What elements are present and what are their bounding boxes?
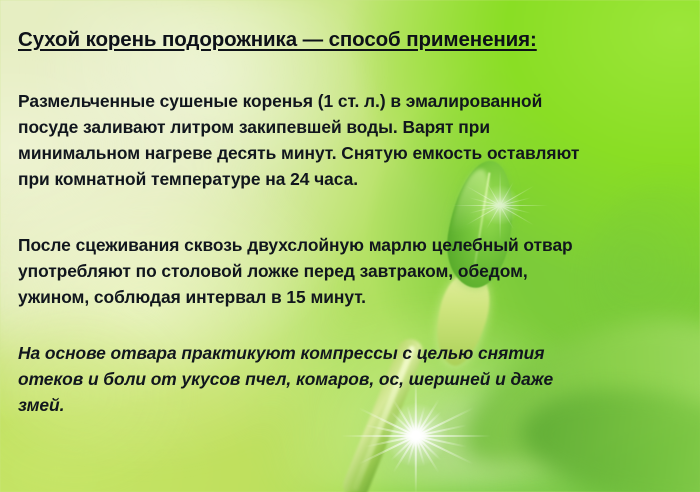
paragraph-line: посуде заливают литром закипевшей воды. … xyxy=(18,114,678,140)
paragraph-line: ужином, соблюдая интервал в 15 минут. xyxy=(18,284,678,310)
text-content: Сухой корень подорожника — способ примен… xyxy=(0,0,700,492)
paragraph-compress: На основе отвара практикуют компрессы с … xyxy=(18,340,678,418)
paragraph-line: при комнатной температуре на 24 часа. xyxy=(18,166,678,192)
poster-canvas: Сухой корень подорожника — способ примен… xyxy=(0,0,700,492)
paragraph-line: отеков и боли от укусов пчел, комаров, о… xyxy=(18,366,678,392)
paragraph-line: змей. xyxy=(18,392,678,418)
paragraph-dosage: После сцеживания сквозь двухслойную марл… xyxy=(18,232,678,310)
paragraph-preparation: Размельченные сушеные коренья (1 ст. л.)… xyxy=(18,88,678,192)
paragraph-line: После сцеживания сквозь двухслойную марл… xyxy=(18,232,678,258)
paragraph-line: минимальном нагреве десять минут. Снятую… xyxy=(18,140,678,166)
paragraph-line: употребляют по столовой ложке перед завт… xyxy=(18,258,678,284)
page-title: Сухой корень подорожника — способ примен… xyxy=(18,28,537,52)
paragraph-line: На основе отвара практикуют компрессы с … xyxy=(18,340,678,366)
paragraph-line: Размельченные сушеные коренья (1 ст. л.)… xyxy=(18,88,678,114)
